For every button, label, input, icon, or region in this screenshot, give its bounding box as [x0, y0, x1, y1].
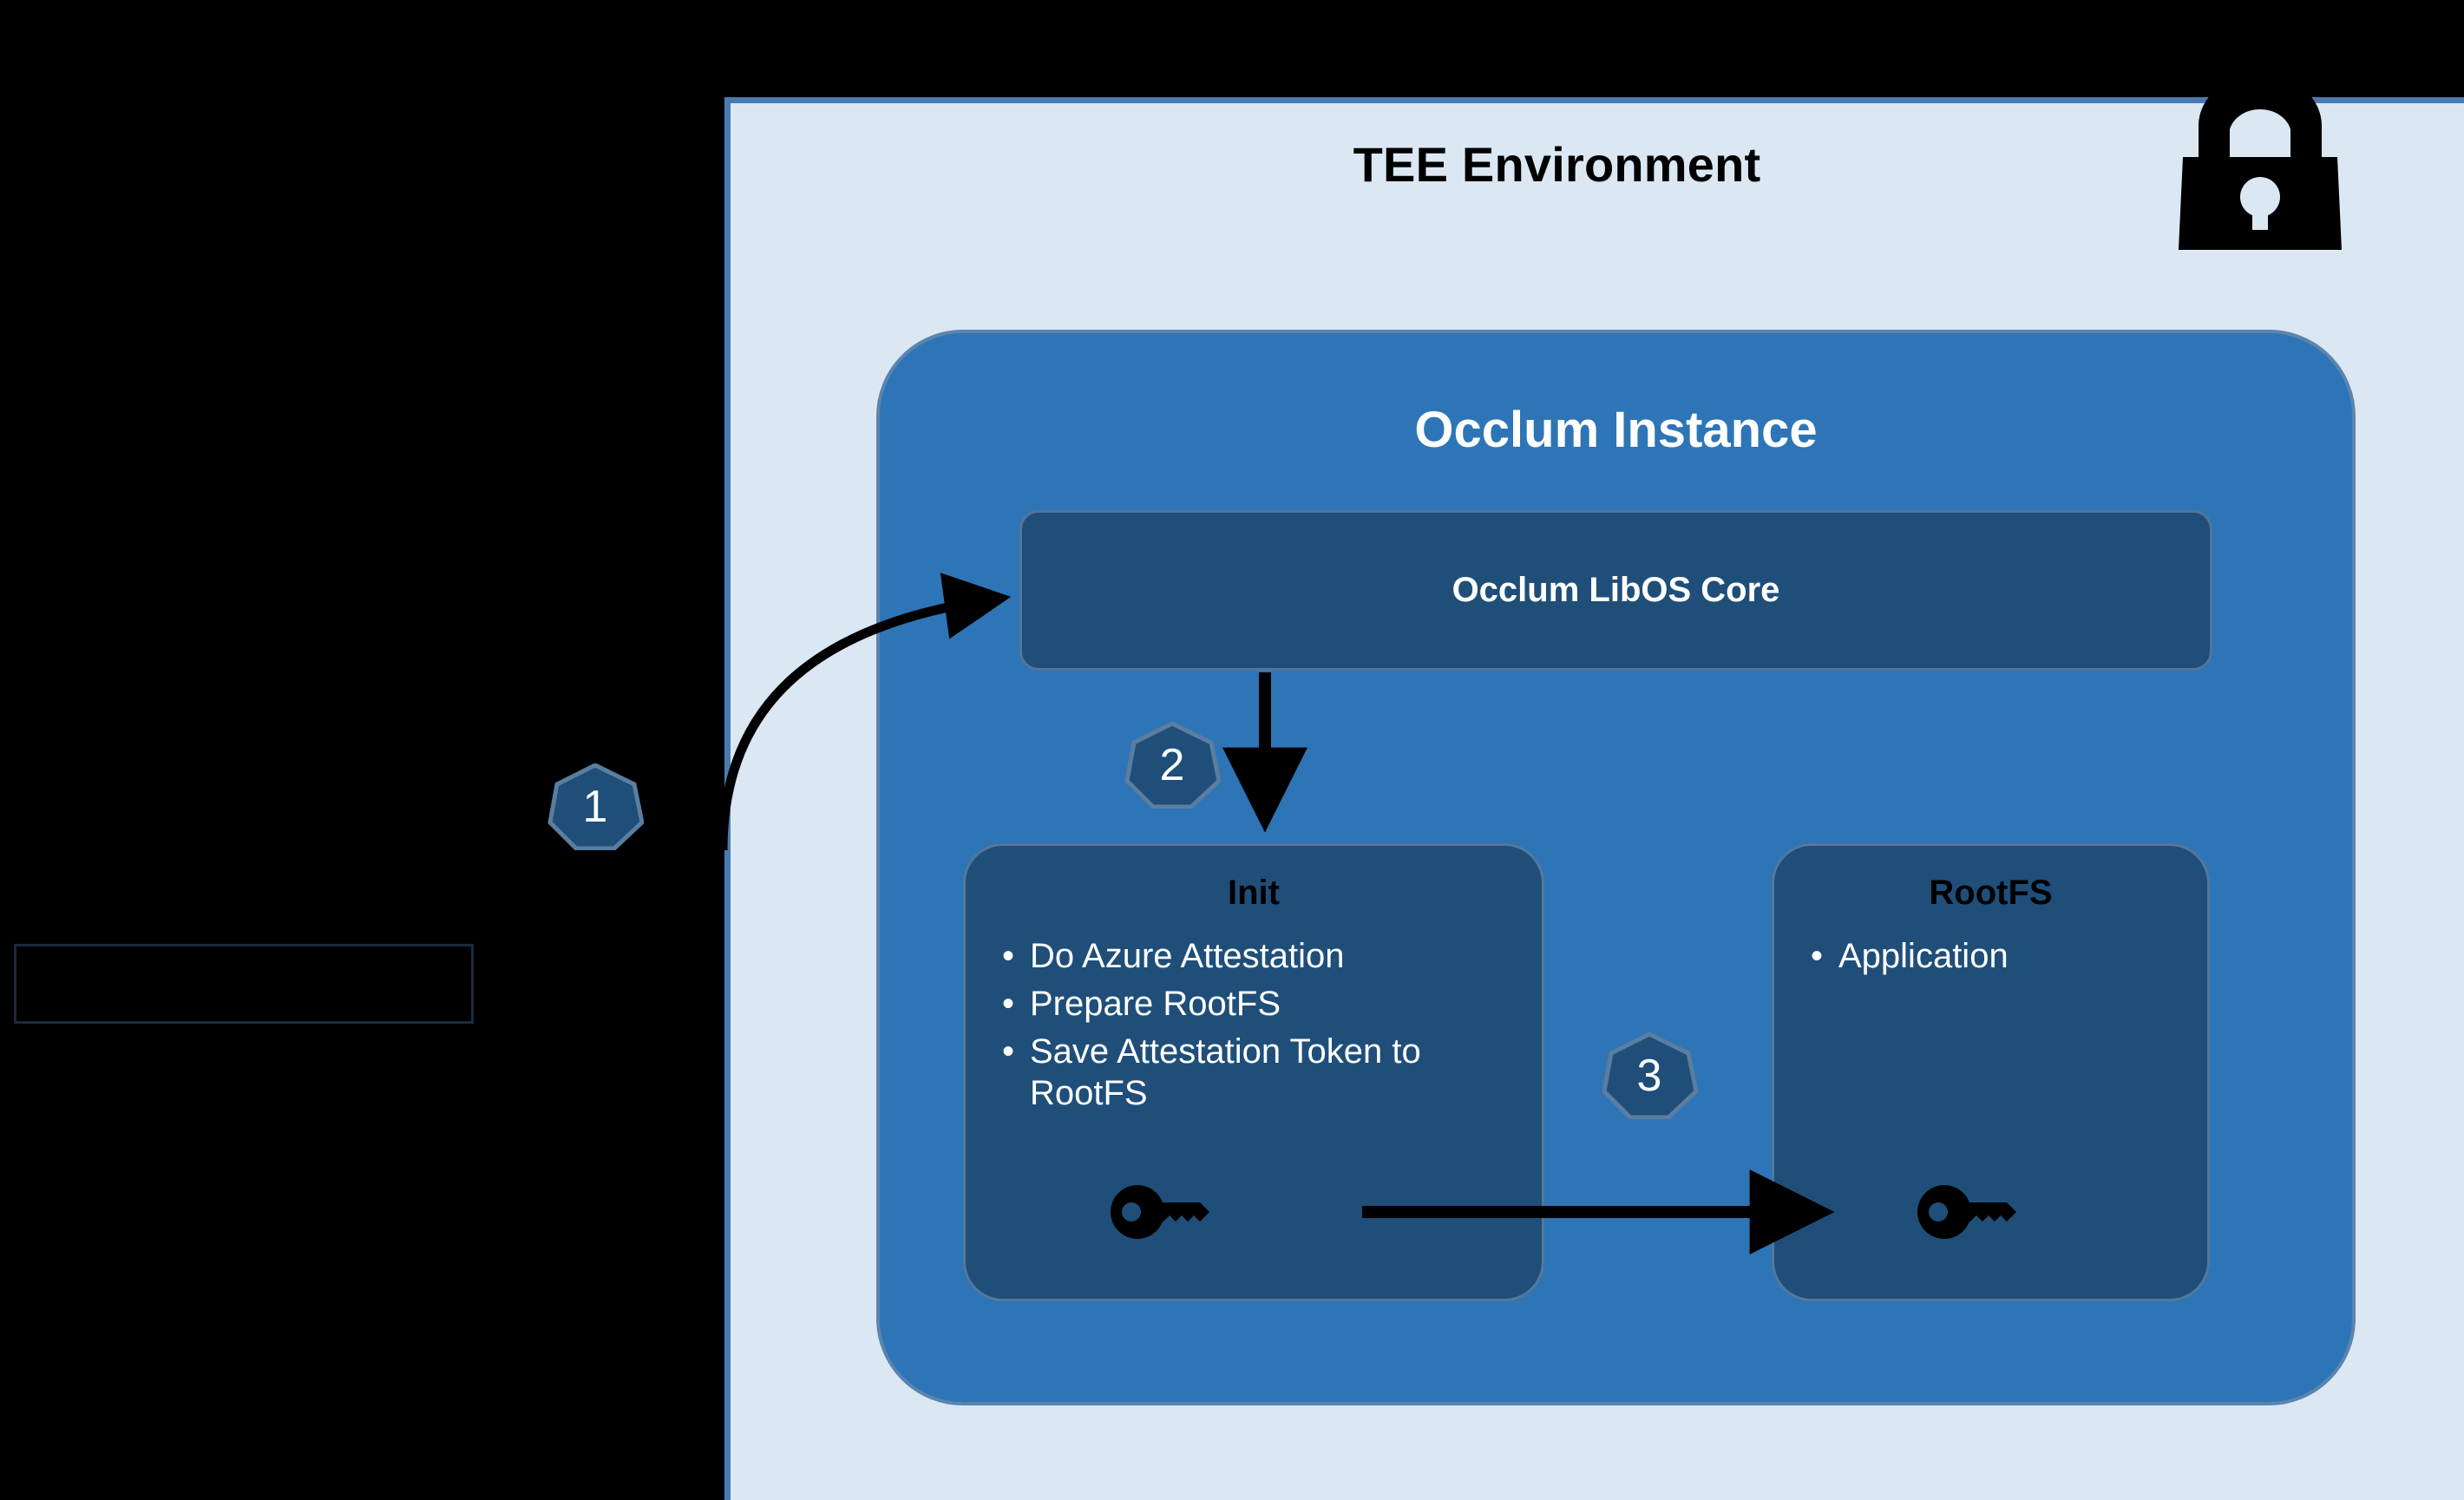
step-badge-3: 3 [1601, 1032, 1698, 1119]
init-bullet-list: • Do Azure Attestation • Prepare RootFS … [966, 935, 1542, 1120]
list-item: • Do Azure Attestation [966, 935, 1542, 983]
bullet-icon: • [1002, 935, 1030, 978]
rootfs-box-title: RootFS [1774, 874, 2207, 913]
step-badge-2: 2 [1124, 722, 1221, 809]
list-item: • Application [1774, 935, 2207, 983]
occlum-libos-core-label: Occlum LibOS Core [1452, 571, 1780, 610]
list-item-label: Prepare RootFS [1030, 983, 1542, 1025]
key-icon [1917, 1185, 2023, 1239]
init-box-title: Init [966, 874, 1542, 913]
left-placeholder-box [14, 944, 474, 1024]
padlock-icon [2169, 91, 2351, 252]
step-badge-3-label: 3 [1637, 1053, 1662, 1098]
step-badge-1-label: 1 [583, 784, 608, 829]
bullet-icon: • [1002, 983, 1030, 1025]
rootfs-bullet-list: • Application [1774, 935, 2207, 983]
key-icon [1111, 1185, 1216, 1239]
tee-environment-title: TEE Environment [731, 136, 2383, 193]
list-item-label: Save Attestation Token to RootFS [1030, 1031, 1542, 1116]
init-box: Init • Do Azure Attestation • Prepare Ro… [963, 843, 1544, 1301]
list-item-label: Application [1838, 935, 2207, 978]
list-item: • Save Attestation Token to RootFS [966, 1031, 1542, 1121]
diagram-canvas: TEE Environment Occlum Instance Occlum L… [0, 0, 2464, 1500]
bullet-icon: • [1002, 1031, 1030, 1073]
occlum-libos-core-box: Occlum LibOS Core [1019, 510, 2212, 671]
list-item: • Prepare RootFS [966, 983, 1542, 1031]
occlum-instance-title: Occlum Instance [880, 401, 2352, 459]
list-item-label: Do Azure Attestation [1030, 935, 1542, 978]
step-badge-2-label: 2 [1160, 743, 1185, 788]
bullet-icon: • [1811, 935, 1838, 978]
step-badge-1: 1 [547, 763, 644, 850]
